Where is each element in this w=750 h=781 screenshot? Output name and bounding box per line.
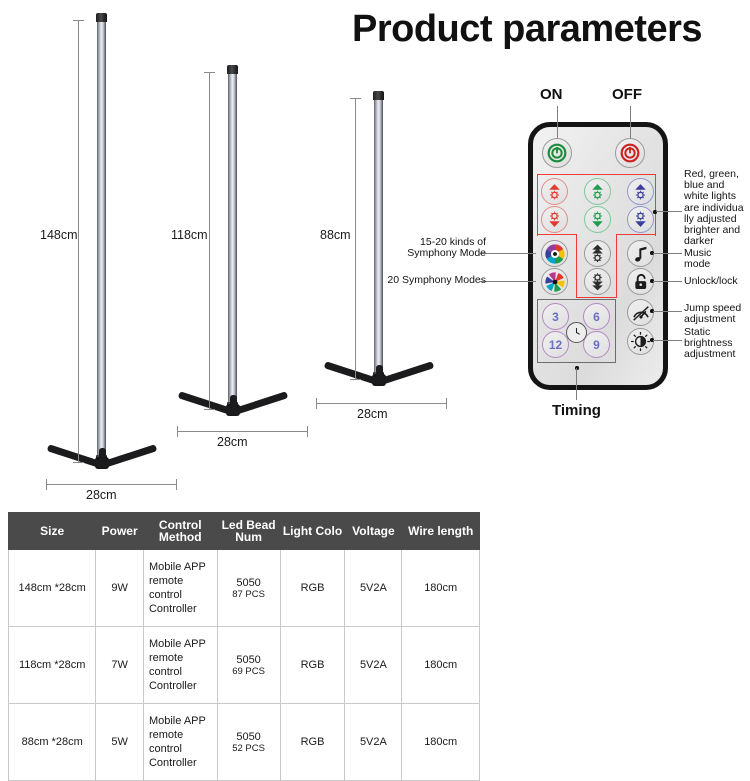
leader-off [630,106,631,138]
unlock-lock-label: Unlock/lock [684,276,738,287]
leader-lock [653,281,682,282]
green-darker-button[interactable] [584,206,611,233]
cell-control-l1: Mobile APP [149,637,214,651]
rgbw-line-7: darker [684,236,750,247]
table-row: 118cm *28cm 7W Mobile APP remote control… [9,627,480,704]
cell-bead-count: 52 PCS [221,743,277,754]
leader-static [653,340,682,341]
brightness-up-button[interactable] [584,240,611,267]
blue-brighter-icon [630,181,651,202]
cell-control-l3: Controller [149,602,214,616]
cell-wire-length: 180cm [402,550,480,627]
cell-control-method: Mobile APP remote control Controller [143,627,217,704]
power-off-icon [620,143,640,163]
lamp-88-leg-back [376,365,383,381]
lamp-148-cap [96,13,107,22]
header-wire-l1: Wire length [404,525,477,537]
cell-bead-count: 69 PCS [221,666,277,677]
cell-wire-length: 180cm [402,627,480,704]
rgb-highlight-shoulder-left [537,234,577,236]
symphony-modes-label: 20 Symphony Modes [378,275,486,286]
jump-speed-button[interactable] [627,299,654,326]
cell-control-method: Mobile APP remote control Controller [143,704,217,781]
lamp-118-cap [227,65,238,74]
leader-rgbw [656,211,682,212]
green-brighter-button[interactable] [584,178,611,205]
cell-voltage: 5V2A [345,550,402,627]
lamp-148-pole [97,20,106,463]
lamp-88-base-label: 28cm [357,407,388,421]
header-color-l1: Light Colo [283,525,343,537]
rgbw-line-3: white lights [684,191,750,202]
timer-9h-button[interactable]: 9 [583,331,610,358]
cell-bead-model: 5050 [221,731,277,743]
remote-on-label: ON [540,86,563,103]
power-off-button[interactable] [615,138,645,168]
product-parameters-infographic: Product parameters 148cm 28cm 118cm 28cm [0,0,750,750]
cell-size: 148cm *28cm [9,550,96,627]
lamp-88-height-label: 88cm [320,228,351,242]
timer-3h-label: 3 [552,310,559,324]
rgbw-label: Red, green, blue and white lights are in… [684,169,750,247]
cell-led-bead: 5050 69 PCS [217,627,280,704]
header-voltage-l1: Voltage [347,525,399,537]
table-row: 148cm *28cm 9W Mobile APP remote control… [9,550,480,627]
color-wheel-button[interactable] [541,240,568,267]
cell-control-method: Mobile APP remote control Controller [143,550,217,627]
cell-light-color: RGB [280,704,345,781]
parameters-table: Size Power Control Method Led Bead Num L… [8,512,480,781]
cell-bead-model: 5050 [221,577,277,589]
green-brighter-icon [587,181,608,202]
table-header-row: Size Power Control Method Led Bead Num L… [9,513,480,550]
lamp-118-base-dimline [177,431,308,432]
cell-light-color: RGB [280,627,345,704]
power-on-icon [547,143,567,163]
remote-off-label: OFF [612,86,642,103]
cell-control-l3: Controller [149,679,214,693]
lamp-148-base-dimline [46,484,177,485]
cell-voltage: 5V2A [345,704,402,781]
leader-symphony-kinds [480,253,536,254]
leader-symphony-modes [480,281,536,282]
cell-power: 9W [96,550,144,627]
header-size-l1: Size [11,525,93,537]
header-control-method: Control Method [143,513,217,550]
cell-size: 118cm *28cm [9,627,96,704]
leader-on [557,106,558,138]
header-voltage: Voltage [345,513,402,550]
jump-speed-label: Jump speed adjustment [684,303,750,325]
lamp-148-height-dimline [78,20,79,463]
timer-12h-label: 12 [549,338,562,352]
symphony-kinds-label: 15-20 kinds of Symphony Mode [390,237,486,259]
blue-darker-button[interactable] [627,206,654,233]
red-brighter-icon [544,181,565,202]
symphony-modes-text: 20 Symphony Modes [378,275,486,286]
cell-control-l2: remote control [149,728,214,756]
lamp-118-height-label: 118cm [171,228,208,242]
page-title: Product parameters [352,8,702,51]
timer-6h-label: 6 [593,310,600,324]
cell-control-l2: remote control [149,651,214,679]
cell-light-color: RGB [280,550,345,627]
lamp-118-base-label: 28cm [217,435,248,449]
jump-speed-line2: adjustment [684,314,750,325]
symphony-wheel-button[interactable] [541,268,568,295]
cell-bead-model: 5050 [221,654,277,666]
lamp-118-leg-right [231,391,288,416]
cell-size: 88cm *28cm [9,704,96,781]
cell-power: 5W [96,704,144,781]
timer-6h-button[interactable]: 6 [583,303,610,330]
cell-control-l3: Controller [149,756,214,770]
cell-control-l1: Mobile APP [149,560,214,574]
lamp-148-height-label: 148cm [40,228,78,242]
green-darker-icon [587,209,608,230]
header-led-bead-num: Led Bead Num [217,513,280,550]
header-power-l1: Power [98,525,141,537]
color-wheel-icon [544,243,566,265]
brightness-up-icon [587,243,608,264]
clock-icon [566,322,587,343]
lamp-88-base-dimline [316,403,447,404]
power-on-button[interactable] [542,138,572,168]
lamp-118-height-dimline [209,72,210,410]
cell-wire-length: 180cm [402,704,480,781]
lamp-148-base-label: 28cm [86,488,117,502]
cell-control-l1: Mobile APP [149,714,214,728]
leader-music [653,253,682,254]
timer-3h-button[interactable]: 3 [542,303,569,330]
header-wire-length: Wire length [402,513,480,550]
timing-label: Timing [552,402,601,419]
lamp-88-height-dimline [355,98,356,380]
blue-darker-icon [630,209,651,230]
rgb-highlight-shoulder-right [616,234,656,236]
music-note-icon [631,244,651,264]
timer-12h-button[interactable]: 12 [542,331,569,358]
cell-bead-count: 87 PCS [221,589,277,600]
cell-led-bead: 5050 52 PCS [217,704,280,781]
blue-brighter-button[interactable] [627,178,654,205]
table-row: 88cm *28cm 5W Mobile APP remote control … [9,704,480,781]
header-size: Size [9,513,96,550]
symphony-kinds-line2: Symphony Mode [390,248,486,259]
cell-led-bead: 5050 87 PCS [217,550,280,627]
static-line3: adjustment [684,349,750,360]
music-mode-label: Music mode [684,248,711,270]
lamp-88-pole [374,98,383,380]
header-power: Power [96,513,144,550]
cell-power: 7W [96,627,144,704]
symphony-wheel-icon [544,271,566,293]
lamp-118-pole [228,72,237,410]
brightness-down-button[interactable] [584,268,611,295]
leader-jump [653,311,682,312]
leader-timing [576,368,577,400]
red-darker-button[interactable] [541,206,568,233]
red-darker-icon [544,209,565,230]
timer-9h-label: 9 [593,338,600,352]
lamp-88-leg-right [377,361,434,386]
lamp-88-cap [373,91,384,100]
contrast-icon [630,331,651,352]
header-light-color: Light Colo [280,513,345,550]
lamp-118-leg-back [230,395,237,411]
static-brightness-button[interactable] [627,328,654,355]
cell-voltage: 5V2A [345,627,402,704]
speed-gauge-icon [631,303,651,323]
brightness-down-icon [587,271,608,292]
static-brightness-label: Static brightness adjustment [684,327,750,361]
padlock-icon [631,272,651,292]
cell-control-l2: remote control [149,574,214,602]
lamp-148-leg-back [99,448,106,464]
header-bead-l2: Num [220,531,278,543]
red-brighter-button[interactable] [541,178,568,205]
header-control-l2: Method [146,531,215,543]
lamp-148-leg-right [100,444,157,469]
